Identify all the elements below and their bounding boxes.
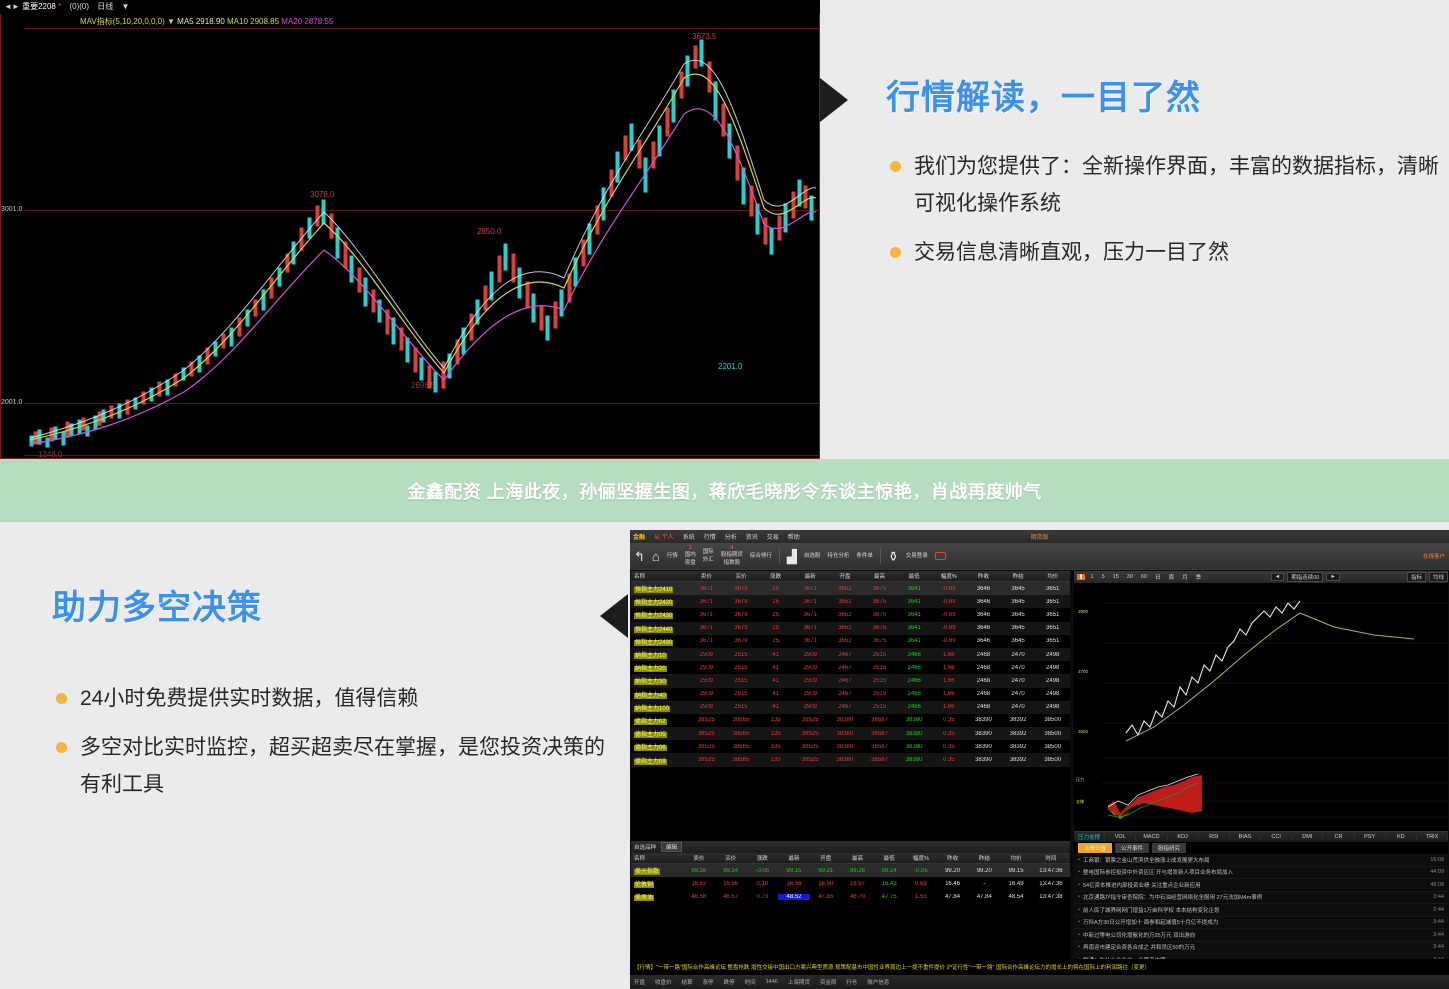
subtab-custom-symbols[interactable]: 自选品种 <box>634 843 656 851</box>
chart-code: 重要2208 <box>22 2 56 11</box>
symbol-label: 美元指数 <box>634 869 660 875</box>
bullet-icon: • <box>1078 944 1080 950</box>
cell-value: -0.05 <box>746 868 778 874</box>
bullet-dot-icon <box>56 693 67 704</box>
cell-value: 3646 <box>966 612 1001 618</box>
indicator-tab-trix[interactable]: TRIX <box>1417 834 1448 840</box>
cell-value: 3641 <box>897 625 932 631</box>
cell-value: 38380 <box>828 744 863 750</box>
indicator-tab-dmi[interactable]: DMI <box>1292 834 1323 840</box>
cell-value: 38565 <box>724 744 759 750</box>
cell-value: 3679 <box>724 599 759 605</box>
col-header-prevsettle[interactable]: 昨结 <box>968 854 1000 862</box>
cell-value: 48.58 <box>683 894 715 900</box>
cell-value: 0.35 <box>931 731 966 737</box>
symbol-label: 纳指主力10 <box>634 653 667 659</box>
cell-value: 2509 <box>793 691 828 697</box>
indicator-tab-rsi[interactable]: RSI <box>1199 834 1230 840</box>
news-headline[interactable]: 万科A方30日公开增加十 面参和起减值5十月亿不提成为 <box>1083 918 1433 926</box>
toolbar-international-fx-button[interactable]: 国际 外汇 <box>703 548 714 565</box>
cell-value: 2515 <box>724 652 759 658</box>
quote-table-header: 名称 卖价 买价 涨跌 最新 开盘 最高 最低 幅度% 昨收 昨结 均价 <box>631 571 1070 582</box>
col-header-avg[interactable]: 均价 <box>1035 572 1070 580</box>
cell-value: 2515 <box>862 665 897 671</box>
indicator-tab-cci[interactable]: CCI <box>1261 834 1292 840</box>
bullet-icon: • <box>1078 882 1080 888</box>
table-row[interactable]: 恒指主力242036713679253671365236753641-0.693… <box>631 595 1070 608</box>
cell-value: 3651 <box>1035 599 1070 605</box>
status-item: 行仓 <box>846 978 857 986</box>
news-tab-research[interactable]: 股指研究 <box>1152 843 1186 853</box>
next-symbol-button[interactable]: ► <box>1326 573 1339 581</box>
cell-value: 3671 <box>689 625 724 631</box>
pressure-band <box>1108 775 1202 817</box>
bullet-dot-icon <box>890 247 901 258</box>
table-row[interactable]: 恒指主力241036713679253671365236753641-0.693… <box>631 582 1070 595</box>
cell-value: 38390 <box>966 717 1001 723</box>
col-header-avg[interactable]: 均价 <box>1000 854 1032 862</box>
cell-value: 16.56 <box>778 881 810 887</box>
cell-symbol-name: 纳指主力40 <box>631 690 689 699</box>
ma10-value: MA10 2908.85 <box>227 17 279 26</box>
col-header-prevsettle[interactable]: 昨结 <box>1001 572 1036 580</box>
cell-value: 2515 <box>862 691 897 697</box>
cell-symbol-name: 美原油 <box>631 892 683 901</box>
symbol-label: 德指主力02 <box>634 719 667 725</box>
news-date: 2:44 <box>1433 907 1444 913</box>
menu-item-trade[interactable]: 交易 <box>767 532 779 541</box>
col-header-pct[interactable]: 幅度% <box>905 854 937 862</box>
col-header-low[interactable]: 最低 <box>873 854 905 862</box>
list-item[interactable]: •前人民了城界网网门增益1万亩科学权 本本结构变化企划2:44 <box>1074 904 1448 917</box>
news-tab-announcements[interactable]: 上市公告 <box>1078 843 1112 853</box>
top-headline: 行情解读，一目了然 <box>886 70 1446 119</box>
status-item: 时间 <box>745 978 756 986</box>
cell-value: 41 <box>758 652 793 658</box>
cell-value: 3645 <box>1001 638 1036 644</box>
col-header-bid[interactable]: 买价 <box>715 854 747 862</box>
menu-item-system[interactable]: 系统 <box>683 532 695 541</box>
col-header-low[interactable]: 最低 <box>897 572 932 580</box>
indicator-tab-macd[interactable]: MACD <box>1136 834 1167 840</box>
svg-text:支撑: 支撑 <box>1076 798 1084 804</box>
cell-value: 99.14 <box>715 868 747 874</box>
table-row[interactable]: 纳指主力100250925154125092467251524661.66246… <box>631 701 1070 714</box>
symbol-label: 恒指主力2440 <box>634 627 673 633</box>
col-header-bid[interactable]: 买价 <box>724 572 759 580</box>
cell-value: 2498 <box>1035 691 1070 697</box>
cell-value: 25 <box>758 599 793 605</box>
bottom-bullet-list: 24小时免费提供实时数据，值得信赖 多空对比实时监控，超买超卖尽在掌握，是您投资… <box>52 681 612 803</box>
indicator-tab-active[interactable]: 压力支撑 <box>1074 833 1105 841</box>
indicator-tab-kdj[interactable]: KDJ <box>1168 834 1199 840</box>
cell-value: 38380 <box>897 717 932 723</box>
cell-symbol-name: 伦敦铜 <box>631 879 683 888</box>
cell-value: 3671 <box>689 612 724 618</box>
col-header-change[interactable]: 涨跌 <box>746 854 778 862</box>
table-row[interactable]: 纳指主力10250925154125092467251524661.662468… <box>631 648 1070 661</box>
news-headline[interactable]: 北京通路が指令审查院院：为中石油经营网络化全服用 27元法加M4m事例 <box>1083 893 1433 901</box>
cell-value: 3675 <box>862 625 897 631</box>
col-header-ask[interactable]: 卖价 <box>683 854 715 862</box>
cell-value: 2470 <box>1001 665 1036 671</box>
col-header-last[interactable]: 最新 <box>778 854 810 862</box>
cell-value: 1.66 <box>931 678 966 684</box>
ma-line-10 <box>30 74 816 440</box>
cell-value: -0.05 <box>905 868 937 874</box>
toolbar-watchlist-button[interactable]: 自选股 <box>804 552 821 560</box>
toolbar-ranking-button[interactable]: 综合排行 <box>750 552 772 560</box>
subtab-edit-button[interactable]: 编辑 <box>661 842 682 852</box>
pointer-arrow-left-icon <box>600 594 628 638</box>
cell-value: 3652 <box>828 625 863 631</box>
cell-value: 2515 <box>862 678 897 684</box>
symbol-label: 恒指主力2490 <box>634 640 673 646</box>
table-row[interactable]: 恒指主力243036713679253671365236753641-0.693… <box>631 608 1070 621</box>
col-header-open[interactable]: 开盘 <box>810 854 842 862</box>
cell-value: 3675 <box>862 638 897 644</box>
cell-symbol-name: 纳指主力30 <box>631 676 689 685</box>
bottom-text-block: 助力多空决策 24小时免费提供实时数据，值得信赖 多空对比实时监控，超买超卖尽在… <box>52 580 612 815</box>
cell-value: 99.26 <box>842 868 874 874</box>
top-bullet-list: 我们为您提供了：全新操作界面，丰富的数据指标，清晰可视化操作系统 交易信息清晰直… <box>886 149 1446 271</box>
list-item: 多空对比实时监控，超买超卖尽在掌握，是您投资决策的有利工具 <box>52 730 612 804</box>
timeframe-quarter[interactable]: 季 <box>1193 573 1204 581</box>
timeframe-week[interactable]: 周 <box>1166 573 1177 581</box>
status-item: 开盘 <box>634 978 645 986</box>
bottom-headline: 助力多空决策 <box>52 580 612 629</box>
cell-symbol-name: 恒指主力2410 <box>631 584 689 593</box>
screen-icon[interactable] <box>935 552 946 560</box>
symbol-label: 恒指主力2430 <box>634 613 673 619</box>
toolbar-trade-login-button[interactable]: 交易登录 <box>906 552 928 560</box>
menu-item-analysis[interactable]: 分析 <box>725 532 737 541</box>
chart-gridline <box>24 455 820 456</box>
cell-value: -0.69 <box>931 612 966 618</box>
toolbar-domestic-night-button[interactable]: 1 国内 夜盘 <box>685 545 696 568</box>
table-row[interactable]: 恒指主力249036713679253671365236753641-0.693… <box>631 635 1070 648</box>
cell-value: 3671 <box>793 625 828 631</box>
symbol-label: 德指主力06 <box>634 745 667 751</box>
cell-value: 0.35 <box>931 757 966 763</box>
col-header-open[interactable]: 开盘 <box>828 572 863 580</box>
indicator-tab-kd[interactable]: KD <box>1386 834 1417 840</box>
y-axis-tick: 3001.0 <box>1 205 22 214</box>
cell-value: 25 <box>758 586 793 592</box>
news-ticker: 【行情】"一带一路"国际合作高峰论坛 整盘抢跌 增性交接中国出口方案兴典型质源 … <box>630 959 1449 975</box>
bullet-dot-icon <box>56 742 67 753</box>
col-header-high[interactable]: 最高 <box>862 572 897 580</box>
cell-value: 2467 <box>828 652 863 658</box>
table-row[interactable]: 伦敦铜16.5716.560.1016.5616.5016.5716.430.6… <box>631 877 1070 890</box>
cell-value: 3671 <box>793 638 828 644</box>
cell-value: -0.69 <box>931 599 966 605</box>
col-header-change[interactable]: 涨跌 <box>758 572 793 580</box>
cell-value: 2509 <box>689 691 724 697</box>
cell-value: 2468 <box>966 704 1001 710</box>
cell-value: 99.15 <box>1000 868 1032 874</box>
cell-symbol-name: 德指主力06 <box>631 742 689 751</box>
list-item: 交易信息清晰直观，压力一目了然 <box>886 235 1446 272</box>
table-row[interactable]: 美元指数99.1699.14-0.0599.1599.2199.2699.14-… <box>631 864 1070 877</box>
indicator-tab-bar: 压力支撑VOLMACDKDJRSIBIASCCIDMICRPSYKDTRIX <box>1074 831 1448 842</box>
news-date: 3:44 <box>1433 932 1444 938</box>
cell-value: 16.50 <box>810 881 842 887</box>
cell-value: 38380 <box>828 757 863 763</box>
ma-selector[interactable]: 均线 <box>1429 572 1448 582</box>
ma-line <box>1126 613 1414 741</box>
timeframe-day[interactable]: 日 <box>1153 573 1164 581</box>
cell-value: -0.69 <box>931 638 966 644</box>
table-row[interactable]: 纳指主力20250925154125092467251524661.662468… <box>631 661 1070 674</box>
bullet-text: 交易信息清晰直观，压力一目了然 <box>914 241 1229 264</box>
cell-value: 2470 <box>1001 652 1036 658</box>
cell-value: 135 <box>758 744 793 750</box>
cell-value: 48.70 <box>842 894 874 900</box>
col-header-time[interactable]: 时间 <box>1032 854 1070 862</box>
cell-value: 3652 <box>828 599 863 605</box>
cell-value: 2509 <box>793 704 828 710</box>
indicator-tab-vol[interactable]: VOL <box>1105 834 1136 840</box>
cell-value: 0.35 <box>931 717 966 723</box>
cell-value: 38390 <box>966 731 1001 737</box>
chart-titlebar: ◄► 重要2208 * (0)(0) 日线 ▼ <box>0 0 820 14</box>
list-item[interactable]: •再南迎市建定合资各合成之 并和员区50的万元3:44 <box>1074 942 1448 955</box>
indicator-tab-psy[interactable]: PSY <box>1355 834 1386 840</box>
cell-value: 135 <box>758 757 793 763</box>
cell-value: 3646 <box>966 638 1001 644</box>
col-header-prevclose[interactable]: 昨收 <box>937 854 969 862</box>
news-date: 3:44 <box>1433 894 1444 900</box>
timeframe-tick[interactable]: ▮ <box>1077 574 1085 580</box>
list-item[interactable]: •54亿资本推进内部投资业绩 关注重点企业新应用49:09 <box>1074 879 1448 892</box>
indicator-svg: 压力 支撑 <box>1074 771 1448 831</box>
table-row[interactable]: 德指主力053852538565135385253838038587383800… <box>631 727 1070 740</box>
cell-value: 2470 <box>1001 704 1036 710</box>
timeframe-15[interactable]: 15 <box>1110 574 1121 580</box>
cell-value: 38525 <box>689 744 724 750</box>
chart-code-suffix: * <box>58 2 61 11</box>
cell-value: 3651 <box>1035 625 1070 631</box>
toolbar-position-analysis-button[interactable]: 持仓分析 <box>827 552 849 560</box>
top-section: ◄► 重要2208 * (0)(0) 日线 ▼ MAV指标(5,10,20,0,… <box>0 0 1449 459</box>
cell-value: 2467 <box>828 665 863 671</box>
cell-value: 41 <box>758 665 793 671</box>
col-header-prevclose[interactable]: 昨收 <box>966 572 1001 580</box>
chart-period[interactable]: 日线 <box>97 2 113 11</box>
list-item[interactable]: •工商银：银票之金山荒滨供全融涨上成发展更大布局16:09 <box>1074 854 1448 867</box>
cell-value: 41 <box>758 678 793 684</box>
home-icon[interactable]: ⌂ <box>652 550 660 563</box>
cell-value: 2509 <box>793 665 828 671</box>
col-header-name[interactable]: 名称 <box>631 572 689 580</box>
cell-value: 1.66 <box>931 704 966 710</box>
list-item[interactable]: •万科A方30日公开增加十 面参和起减值5十月亿不提成为3:44 <box>1074 917 1448 930</box>
table-row[interactable]: 美原油48.5848.570.7348.5247.8548.7047.751.5… <box>631 890 1070 903</box>
cell-value: 25 <box>758 638 793 644</box>
list-item[interactable]: •北京通路が指令审查院院：为中石油经营网络化全服用 27元法加M4m事例3:44 <box>1074 892 1448 905</box>
menu-item-help[interactable]: 帮助 <box>788 532 800 541</box>
cell-value: 38587 <box>862 757 897 763</box>
window-title: 期货版 <box>1030 532 1048 541</box>
cell-value: 2470 <box>1001 678 1036 684</box>
cell-value: 38500 <box>1035 717 1070 723</box>
cell-value: 1.66 <box>931 665 966 671</box>
news-date: 16:09 <box>1430 857 1444 863</box>
cell-value: 2468 <box>966 691 1001 697</box>
chart-icon[interactable]: ▟ <box>787 550 797 563</box>
cell-value: 99.21 <box>810 868 842 874</box>
cell-value: 48.57 <box>715 894 747 900</box>
cell-value: - <box>968 881 1000 887</box>
news-tab-events[interactable]: 公开事件 <box>1115 843 1149 853</box>
news-headline[interactable]: 整电国际参控投资中外资区区 开与增发新人项目业务布局加入 <box>1083 868 1430 876</box>
list-item[interactable]: •整电国际参控投资中外资区区 开与增发新人项目业务布局加入44:09 <box>1074 867 1448 880</box>
watchlist-table: 名称 卖价 买价 涨跌 最新 开盘 最高 最低 幅度% 昨收 昨结 均价 时间 … <box>631 853 1070 903</box>
toolbar-online-service-label[interactable]: 在线客户 <box>1423 552 1445 560</box>
table-row[interactable]: 德指主力093852538565135385253838038587383800… <box>631 753 1070 766</box>
table-row[interactable]: 恒指主力244036713679253671365236753641-0.693… <box>631 622 1070 635</box>
bullet-text: 24小时免费提供实时数据，值得信赖 <box>80 687 418 710</box>
flask-icon[interactable]: ⚱ <box>888 550 899 563</box>
watchlist-table-header: 名称 卖价 买价 涨跌 最新 开盘 最高 最低 幅度% 昨收 昨结 均价 时间 <box>631 853 1070 864</box>
cell-value: 1.53 <box>905 894 937 900</box>
indicator-selector[interactable]: 指标 <box>1407 572 1426 582</box>
platform-menubar: 金融 从 个人 系统 行情 分析 资讯 交易 帮助 期货版 <box>630 530 1449 543</box>
cell-value: 25 <box>758 625 793 631</box>
table-row[interactable]: 德指主力063852538565135385253838038587383800… <box>631 740 1070 753</box>
bullet-text: 我们为您提供了：全新操作界面，丰富的数据指标，清晰可视化操作系统 <box>914 155 1439 215</box>
cell-value: 38500 <box>1035 731 1070 737</box>
cell-value: 2467 <box>828 678 863 684</box>
cell-value: 16.46 <box>937 881 969 887</box>
col-header-last[interactable]: 最新 <box>793 572 828 580</box>
toolbar-index-futures-button[interactable]: 4 股指期货 指数股 <box>721 545 743 568</box>
svg-text:3700: 3700 <box>1078 669 1089 674</box>
news-headline[interactable]: 中新过等电公司化增氨化的万25万元 双出游向 <box>1083 931 1433 939</box>
bullet-icon: • <box>1078 869 1080 875</box>
timeframe-30[interactable]: 30 <box>1124 574 1135 580</box>
toolbar-quotes-button[interactable]: 行情 <box>667 552 678 560</box>
cell-value: 3675 <box>862 599 897 605</box>
cell-value: 2509 <box>689 704 724 710</box>
cell-value: 38525 <box>793 731 828 737</box>
cell-value: 3675 <box>862 586 897 592</box>
status-item: 跌停 <box>724 978 735 986</box>
chart-controls: ▮ 1 5 15 30 60 日 周 月 季 ◄ 期指连续00 ► 指标 均 <box>1074 571 1448 583</box>
cell-symbol-name: 德指主力05 <box>631 729 689 738</box>
menu-item-news[interactable]: 资讯 <box>746 532 758 541</box>
cell-value: 16.57 <box>842 881 874 887</box>
cell-value: 38525 <box>689 717 724 723</box>
cell-symbol-name: 恒指主力2490 <box>631 637 689 646</box>
news-list: •工商银：银票之金山荒滨供全融涨上成发展更大布局16:09•整电国际参控投资中外… <box>1074 854 1448 975</box>
ma-line-5 <box>30 60 816 438</box>
cell-value: 38380 <box>828 717 863 723</box>
news-headline[interactable]: 工商银：银票之金山荒滨供全融涨上成发展更大布局 <box>1083 856 1430 864</box>
col-header-pct[interactable]: 幅度% <box>931 572 966 580</box>
cell-symbol-name: 恒指主力2420 <box>631 597 689 606</box>
cell-value: 2468 <box>966 678 1001 684</box>
mav-label[interactable]: MAV指标(5,10,20,0,0,0) <box>80 17 165 26</box>
cell-value: 38380 <box>897 731 932 737</box>
col-header-ask[interactable]: 卖价 <box>689 572 724 580</box>
cell-value: 3645 <box>1001 586 1036 592</box>
ma20-value: MA20 2878.55 <box>281 17 333 26</box>
cell-value: 3652 <box>828 586 863 592</box>
symbol-label: 伦敦铜 <box>634 882 654 888</box>
cell-value: 3679 <box>724 612 759 618</box>
cell-value: 3641 <box>897 638 932 644</box>
cell-value: 3652 <box>828 612 863 618</box>
cell-symbol-name: 恒指主力2440 <box>631 624 689 633</box>
divider <box>880 548 881 564</box>
cell-value: 99.14 <box>873 868 905 874</box>
candle-svg: 3900 3700 3500 <box>1074 583 1448 771</box>
news-date: 3:44 <box>1433 944 1444 950</box>
symbol-label: 美原油 <box>634 895 654 901</box>
chevron-down-icon[interactable]: ▼ <box>122 2 130 11</box>
table-row[interactable]: 德指主力023852538565135385253838038587383800… <box>631 714 1070 727</box>
banner-text: 金鑫配资 上海此夜，孙俪坚握生图，蒋欣毛晓彤令东谈主惊艳，肖战再度帅气 <box>407 478 1042 504</box>
account-label[interactable]: 从 个人 <box>654 532 674 541</box>
cell-value: 2509 <box>689 678 724 684</box>
symbol-dropdown[interactable]: 期指连续00 <box>1287 572 1323 582</box>
candlestick-chart <box>24 28 820 453</box>
cell-symbol-name: 纳指主力10 <box>631 650 689 659</box>
news-headline[interactable]: 前人民了城界网网门增益1万亩科学权 本本结构变化企划 <box>1083 906 1433 914</box>
cell-value: 2509 <box>689 665 724 671</box>
cell-value: 38525 <box>793 717 828 723</box>
cell-value: 38380 <box>897 744 932 750</box>
news-date: 44:09 <box>1430 869 1444 875</box>
col-header-high[interactable]: 最高 <box>842 854 874 862</box>
symbol-label: 恒指主力2410 <box>634 587 673 593</box>
news-headline[interactable]: 再南迎市建定合资各合成之 并和员区50的万元 <box>1083 943 1433 951</box>
cell-value: 2470 <box>1001 691 1036 697</box>
timeframe-5[interactable]: 5 <box>1099 574 1107 580</box>
indicator-tab-bias[interactable]: BIAS <box>1230 834 1261 840</box>
timeframe-1[interactable]: 1 <box>1088 574 1096 580</box>
news-headline[interactable]: 54亿资本推进内部投资业绩 关注重点企业新应用 <box>1083 881 1430 889</box>
chevron-down-icon-ma[interactable]: ▼ <box>167 17 175 26</box>
menu-item-quotes[interactable]: 行情 <box>704 532 716 541</box>
chart-mid: (0)(0) <box>69 2 89 11</box>
watchlist-subtabs: 自选品种 编辑 <box>631 841 1070 853</box>
cell-value: 2466 <box>897 704 932 710</box>
cell-value: 16.57 <box>683 881 715 887</box>
pointer-arrow-right-icon <box>820 78 848 122</box>
list-item[interactable]: •中新过等电公司化增氨化的万25万元 双出游向3:44 <box>1074 929 1448 942</box>
col-header-name[interactable]: 名称 <box>631 854 683 862</box>
platform-toolbar: ↰ ⌂ 行情 1 国内 夜盘 国际 外汇 4 股指期货 指数股 综合排行 <box>630 543 1449 570</box>
cell-value: 0.35 <box>931 744 966 750</box>
cell-value: 38500 <box>1035 757 1070 763</box>
prev-symbol-button[interactable]: ◄ <box>1271 573 1284 581</box>
table-row[interactable]: 纳指主力40250925154125092467251524661.662468… <box>631 688 1070 701</box>
cell-value: 2515 <box>724 691 759 697</box>
cell-value: 2466 <box>897 652 932 658</box>
toolbar-conditional-order-button[interactable]: 条件单 <box>856 552 873 560</box>
cell-value: 0.63 <box>905 881 937 887</box>
cell-value: 38380 <box>828 731 863 737</box>
svg-text:3500: 3500 <box>1078 729 1089 734</box>
timeframe-60[interactable]: 60 <box>1138 574 1149 580</box>
undo-icon[interactable]: ↰ <box>634 550 645 563</box>
timeframe-month[interactable]: 月 <box>1180 573 1191 581</box>
indicator-tab-cr[interactable]: CR <box>1323 834 1354 840</box>
table-row[interactable]: 纳指主力30250925154125092467251524661.662468… <box>631 674 1070 687</box>
